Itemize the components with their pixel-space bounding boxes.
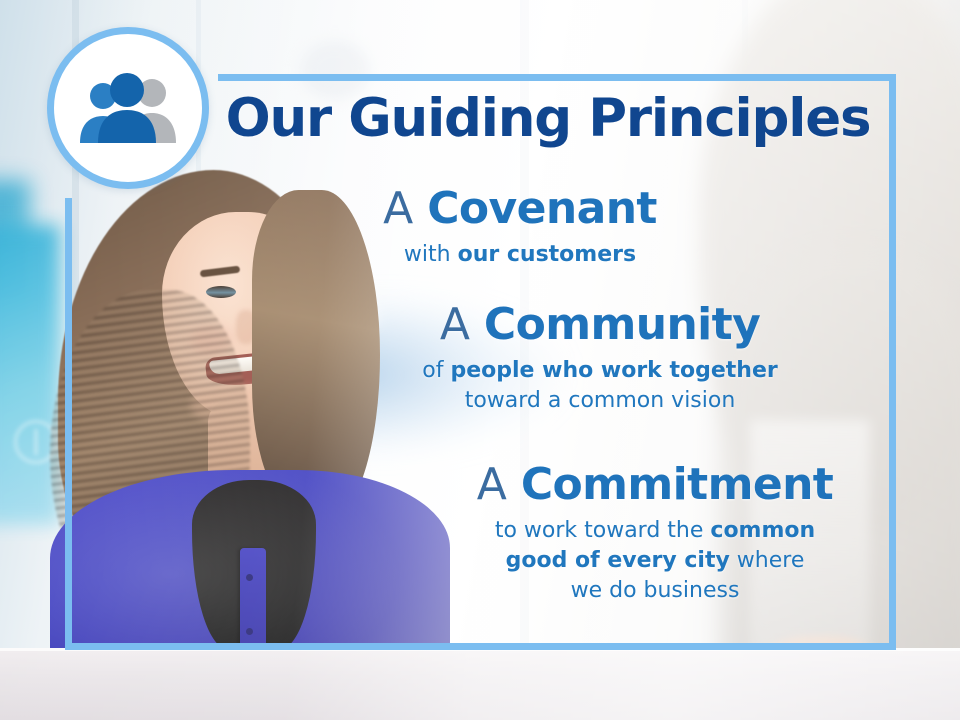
principle-community: A Community of people who work togethert… [360, 302, 840, 416]
frame-border-bottom [65, 643, 896, 650]
principle-keyword: Community [484, 299, 760, 350]
people-group-badge [47, 27, 209, 189]
principle-heading: A Covenant [300, 186, 740, 232]
frame-border-right [889, 74, 896, 650]
principle-description: of people who work togethertoward a comm… [360, 356, 840, 415]
principle-keyword: Commitment [521, 459, 833, 510]
page-title: Our Guiding Principles [218, 92, 878, 145]
shirt-button [246, 628, 253, 635]
principle-article: A [440, 299, 470, 350]
principle-covenant: A Covenant with our customers [300, 186, 740, 270]
principle-line: with our customers [300, 240, 740, 270]
shirt-button [246, 574, 253, 581]
principle-heading: A Commitment [420, 462, 890, 508]
principle-description: to work toward the commongood of every c… [420, 516, 890, 605]
frame-border-left [65, 198, 72, 650]
principle-description: with our customers [300, 240, 740, 270]
principle-line: of people who work together [360, 356, 840, 386]
principle-line: to work toward the common [420, 516, 890, 546]
principle-line: we do business [420, 576, 890, 606]
eye [206, 286, 236, 298]
principle-keyword: Covenant [427, 183, 657, 234]
white-desk [0, 648, 960, 720]
principle-line: toward a common vision [360, 386, 840, 416]
principle-article: A [383, 183, 413, 234]
principle-line: good of every city where [420, 546, 890, 576]
principle-heading: A Community [360, 302, 840, 348]
guiding-principles-poster: FLOW AUTOMOTIVE FLOW [0, 0, 960, 720]
principle-commitment: A Commitment to work toward the commongo… [420, 462, 890, 605]
principle-article: A [477, 459, 507, 510]
frame-border-top [218, 74, 896, 81]
people-group-icon [74, 71, 182, 145]
